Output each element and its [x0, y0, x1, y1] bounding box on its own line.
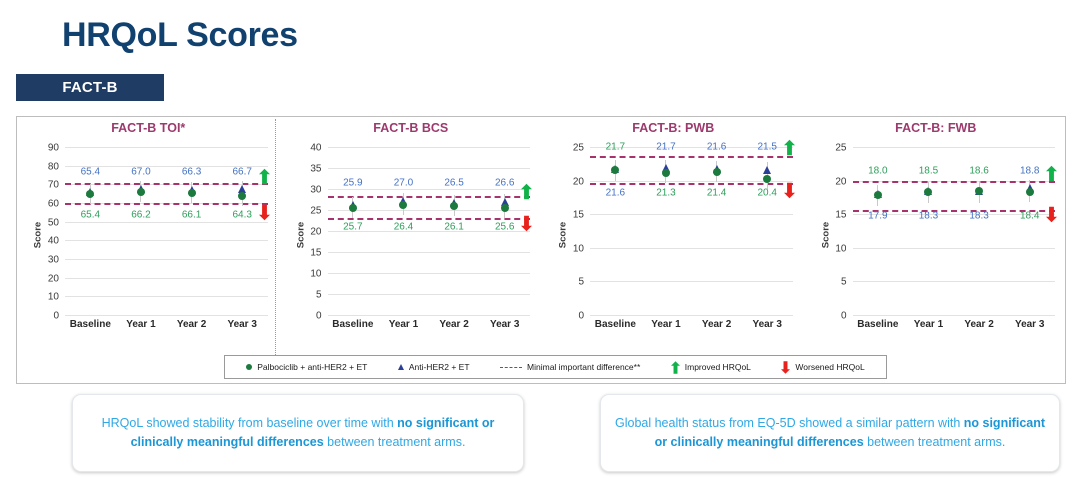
gridline: 5: [853, 281, 1056, 282]
legend-item: Minimal important difference**: [500, 362, 640, 372]
y-tick-label: 0: [578, 311, 584, 322]
y-tick-label: 0: [53, 311, 59, 322]
legend-item: Palbociclib + anti-HER2 + ET: [246, 362, 367, 372]
chart-title: FACT-B: FWB: [805, 121, 1068, 135]
y-tick-label: 20: [310, 227, 321, 238]
improved-hrqol-arrow-icon: [521, 183, 532, 200]
data-label-top: 26.5: [444, 178, 463, 189]
worsened-hrqol-arrow-icon: [1046, 206, 1057, 223]
data-label-top: 27.0: [394, 178, 413, 189]
y-tick-label: 40: [310, 143, 321, 154]
minimal-important-difference-line: [590, 183, 793, 185]
green-up-arrow-icon: [671, 361, 680, 374]
data-label-top: 26.6: [495, 178, 514, 189]
data-label-top: 21.7: [606, 142, 625, 153]
x-tick-label: Year 2: [964, 319, 993, 330]
y-tick-label: 15: [573, 210, 584, 221]
x-tick-label: Year 3: [227, 319, 256, 330]
y-tick-label: 30: [310, 185, 321, 196]
blue-triangle-icon: [398, 364, 404, 370]
data-label-bottom: 65.4: [81, 210, 100, 221]
legend-label: Improved HRQoL: [685, 362, 751, 372]
data-label-bottom: 25.6: [495, 221, 514, 232]
section-badge: FACT-B: [16, 74, 164, 101]
y-tick-label: 35: [310, 164, 321, 175]
marker-anti-her2-et: [763, 166, 771, 174]
gridline: 50: [65, 222, 268, 223]
data-label-top: 18.5: [919, 166, 938, 177]
x-tick-label: Year 1: [651, 319, 680, 330]
data-label-bottom: 66.2: [131, 210, 150, 221]
gridline: 0: [65, 315, 268, 316]
y-tick-label: 10: [573, 243, 584, 254]
slide-root: HRQoL Scores FACT-B FACT-B TOI*Score0102…: [0, 0, 1080, 501]
x-tick-label: Year 2: [702, 319, 731, 330]
gridline: 90: [65, 147, 268, 148]
data-label-top: 21.7: [656, 142, 675, 153]
y-tick-label: 80: [48, 161, 59, 172]
marker-palbociclib: [501, 204, 509, 212]
y-tick-label: 20: [573, 176, 584, 187]
gridline: 30: [65, 259, 268, 260]
gridline: 10: [590, 248, 793, 249]
gridline: 5: [590, 281, 793, 282]
minimal-important-difference-line: [65, 203, 268, 205]
legend-label: Anti-HER2 + ET: [409, 362, 470, 372]
page-title: HRQoL Scores: [62, 16, 298, 55]
y-tick-label: 10: [48, 292, 59, 303]
data-label-top: 67.0: [131, 167, 150, 178]
x-tick-label: Year 2: [177, 319, 206, 330]
y-tick-label: 30: [48, 255, 59, 266]
worsened-hrqol-arrow-icon: [259, 204, 270, 221]
marker-palbociclib: [713, 168, 721, 176]
data-label-top: 65.4: [81, 167, 100, 178]
x-tick-label: Year 3: [1015, 319, 1044, 330]
y-tick-label: 10: [835, 243, 846, 254]
gridline: 20: [590, 181, 793, 182]
data-label-bottom: 18.3: [969, 211, 988, 222]
y-tick-label: 70: [48, 180, 59, 191]
marker-palbociclib: [975, 187, 983, 195]
x-tick-label: Year 2: [439, 319, 468, 330]
callout-left: HRQoL showed stability from baseline ove…: [72, 394, 524, 472]
data-label-bottom: 25.7: [343, 221, 362, 232]
x-tick-label: Year 1: [914, 319, 943, 330]
y-tick-label: 5: [841, 277, 847, 288]
legend-item: Worsened HRQoL: [781, 361, 864, 374]
chart-panel-4: FACT-B: FWBScore051015202518.017.918.518…: [805, 117, 1068, 353]
marker-palbociclib: [662, 169, 670, 177]
improved-hrqol-arrow-icon: [784, 139, 795, 156]
y-tick-label: 20: [48, 273, 59, 284]
x-tick-label: Year 1: [389, 319, 418, 330]
gridline: 30: [328, 189, 531, 190]
marker-palbociclib: [611, 166, 619, 174]
y-tick-label: 15: [835, 210, 846, 221]
data-label-top: 18.0: [868, 166, 887, 177]
data-label-bottom: 20.4: [757, 187, 776, 198]
x-tick-label: Year 1: [126, 319, 155, 330]
legend-label: Palbociclib + anti-HER2 + ET: [257, 362, 367, 372]
gridline: 10: [65, 296, 268, 297]
charts-panel: FACT-B TOI*Score010203040506070809065.46…: [16, 116, 1066, 384]
minimal-important-difference-line: [328, 196, 531, 198]
data-label-top: 18.8: [1020, 166, 1039, 177]
gridline: 40: [328, 147, 531, 148]
x-tick-label: Baseline: [857, 319, 898, 330]
y-tick-label: 10: [310, 269, 321, 280]
gridline: 10: [328, 273, 531, 274]
minimal-important-difference-line: [65, 183, 268, 185]
x-axis-labels: BaselineYear 1Year 2Year 3: [65, 319, 268, 335]
x-tick-label: Baseline: [332, 319, 373, 330]
y-tick-label: 5: [316, 290, 322, 301]
minimal-important-difference-line: [328, 218, 531, 220]
y-axis-label: Score: [33, 222, 44, 248]
data-label-bottom: 21.3: [656, 187, 675, 198]
data-label-top: 18.6: [969, 166, 988, 177]
gridline: 0: [328, 315, 531, 316]
y-tick-label: 60: [48, 199, 59, 210]
data-label-bottom: 66.1: [182, 210, 201, 221]
plot-area: 051015202518.017.918.518.318.618.318.818…: [853, 147, 1056, 315]
data-label-bottom: 18.4: [1020, 211, 1039, 222]
gridline: 15: [328, 252, 531, 253]
gridline: 10: [853, 248, 1056, 249]
y-tick-label: 20: [835, 176, 846, 187]
y-axis-label: Score: [820, 222, 831, 248]
marker-palbociclib: [349, 204, 357, 212]
y-tick-label: 25: [310, 206, 321, 217]
callout-right-text: Global health status from EQ-5D showed a…: [615, 414, 1045, 452]
data-label-bottom: 21.4: [707, 187, 726, 198]
data-label-top: 25.9: [343, 178, 362, 189]
x-tick-label: Baseline: [70, 319, 111, 330]
x-axis-labels: BaselineYear 1Year 2Year 3: [590, 319, 793, 335]
worsened-hrqol-arrow-icon: [521, 215, 532, 232]
data-label-bottom: 64.3: [232, 210, 251, 221]
chart-panel-1: FACT-B TOI*Score010203040506070809065.46…: [17, 117, 280, 353]
marker-palbociclib: [188, 189, 196, 197]
data-label-top: 66.7: [232, 167, 251, 178]
y-tick-label: 5: [578, 277, 584, 288]
x-axis-labels: BaselineYear 1Year 2Year 3: [853, 319, 1056, 335]
data-label-bottom: 18.3: [919, 211, 938, 222]
marker-palbociclib: [1026, 188, 1034, 196]
marker-palbociclib: [137, 188, 145, 196]
gridline: 5: [328, 294, 531, 295]
gridline: 15: [590, 214, 793, 215]
legend-item: Improved HRQoL: [671, 361, 751, 374]
plot-area: 051015202530354025.925.727.026.426.526.1…: [328, 147, 531, 315]
y-axis-label: Score: [558, 222, 569, 248]
worsened-hrqol-arrow-icon: [784, 182, 795, 199]
y-tick-label: 90: [48, 143, 59, 154]
chart-title: FACT-B TOI*: [17, 121, 280, 135]
callout-right: Global health status from EQ-5D showed a…: [600, 394, 1060, 472]
y-tick-label: 0: [316, 311, 322, 322]
gridline: 25: [853, 147, 1056, 148]
chart-title: FACT-B: PWB: [542, 121, 805, 135]
marker-palbociclib: [399, 201, 407, 209]
x-tick-label: Year 3: [490, 319, 519, 330]
marker-palbociclib: [238, 192, 246, 200]
gridline: 40: [65, 240, 268, 241]
gridline: 20: [65, 278, 268, 279]
gridline: 0: [590, 315, 793, 316]
y-tick-label: 50: [48, 217, 59, 228]
gridline: 0: [853, 315, 1056, 316]
data-label-bottom: 17.9: [868, 211, 887, 222]
y-tick-label: 40: [48, 236, 59, 247]
marker-palbociclib: [874, 191, 882, 199]
data-label-top: 21.5: [757, 142, 776, 153]
y-tick-label: 25: [573, 143, 584, 154]
y-tick-label: 15: [310, 248, 321, 259]
dashed-line-icon: [500, 367, 522, 368]
y-axis-label: Score: [295, 222, 306, 248]
plot-area: 051015202521.721.621.721.321.621.421.520…: [590, 147, 793, 315]
chart-panel-2: FACT-B BCSScore051015202530354025.925.72…: [280, 117, 543, 353]
legend-label: Worsened HRQoL: [795, 362, 864, 372]
plot-area: 010203040506070809065.465.467.066.266.36…: [65, 147, 268, 315]
red-down-arrow-icon: [781, 361, 790, 374]
callout-left-text: HRQoL showed stability from baseline ove…: [87, 414, 509, 452]
improved-hrqol-arrow-icon: [1046, 165, 1057, 182]
data-label-top: 21.6: [707, 142, 726, 153]
legend-item: Anti-HER2 + ET: [398, 362, 470, 372]
data-label-top: 66.3: [182, 167, 201, 178]
charts-row: FACT-B TOI*Score010203040506070809065.46…: [17, 117, 1067, 353]
data-label-bottom: 26.4: [394, 221, 413, 232]
x-tick-label: Baseline: [595, 319, 636, 330]
x-tick-label: Year 3: [752, 319, 781, 330]
gridline: 25: [328, 210, 531, 211]
x-axis-labels: BaselineYear 1Year 2Year 3: [328, 319, 531, 335]
green-circle-icon: [246, 364, 252, 370]
gridline: 35: [328, 168, 531, 169]
y-tick-label: 25: [835, 143, 846, 154]
chart-title: FACT-B BCS: [280, 121, 543, 135]
data-label-bottom: 26.1: [444, 221, 463, 232]
chart-legend: Palbociclib + anti-HER2 + ET Anti-HER2 +…: [224, 355, 887, 379]
legend-label: Minimal important difference**: [527, 362, 640, 372]
minimal-important-difference-line: [590, 156, 793, 158]
chart-panel-3: FACT-B: PWBScore051015202521.721.621.721…: [542, 117, 805, 353]
marker-palbociclib: [763, 175, 771, 183]
y-tick-label: 0: [841, 311, 847, 322]
marker-palbociclib: [86, 190, 94, 198]
data-label-bottom: 21.6: [606, 187, 625, 198]
minimal-important-difference-line: [853, 181, 1056, 183]
improved-hrqol-arrow-icon: [259, 168, 270, 185]
